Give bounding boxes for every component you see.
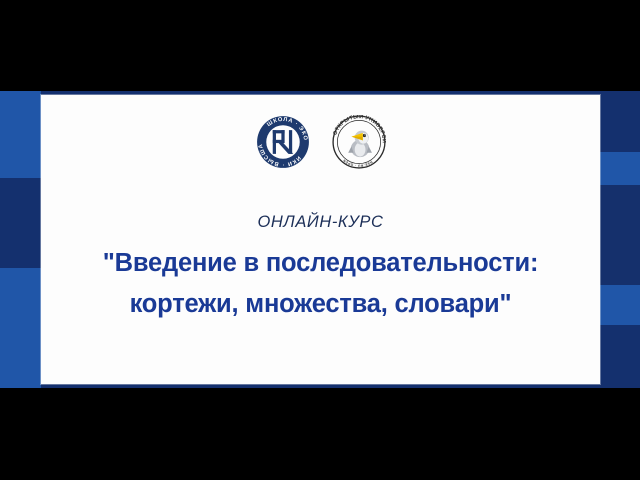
background-block-right-4 xyxy=(600,285,640,325)
background-block-left-2 xyxy=(0,178,41,268)
open-university-logo-icon: ОТКРЫТЫЙ УНИВЕРСИТЕТ HSE.RU · OPEN xyxy=(332,115,386,169)
page-title-line-2: кортежи, множества, словари" xyxy=(41,284,600,325)
open-university-logo: ОТКРЫТЫЙ УНИВЕРСИТЕТ HSE.RU · OPEN xyxy=(332,115,386,169)
background-block-left-3 xyxy=(0,268,41,388)
background-block-right-2 xyxy=(600,152,640,185)
slide-stage: ШКОЛА · ЭКОНОМ ИКИ · ВЫСШАЯ xyxy=(0,91,640,388)
hse-logo-icon: ШКОЛА · ЭКОНОМ ИКИ · ВЫСШАЯ xyxy=(256,115,310,169)
slide-card: ШКОЛА · ЭКОНОМ ИКИ · ВЫСШАЯ xyxy=(41,95,600,384)
background-block-right-1 xyxy=(600,91,640,152)
page-title-line-1: "Введение в последовательности: xyxy=(41,243,600,284)
background-block-right-5 xyxy=(600,325,640,388)
hse-logo: ШКОЛА · ЭКОНОМ ИКИ · ВЫСШАЯ xyxy=(256,115,310,169)
background-block-right-3 xyxy=(600,185,640,285)
page-title: "Введение в последовательности: кортежи,… xyxy=(41,243,600,325)
course-kicker: ОНЛАЙН-КУРС xyxy=(41,213,600,232)
background-block-left-1 xyxy=(0,91,41,178)
logo-row: ШКОЛА · ЭКОНОМ ИКИ · ВЫСШАЯ xyxy=(41,115,600,169)
video-frame: ШКОЛА · ЭКОНОМ ИКИ · ВЫСШАЯ xyxy=(0,0,640,480)
